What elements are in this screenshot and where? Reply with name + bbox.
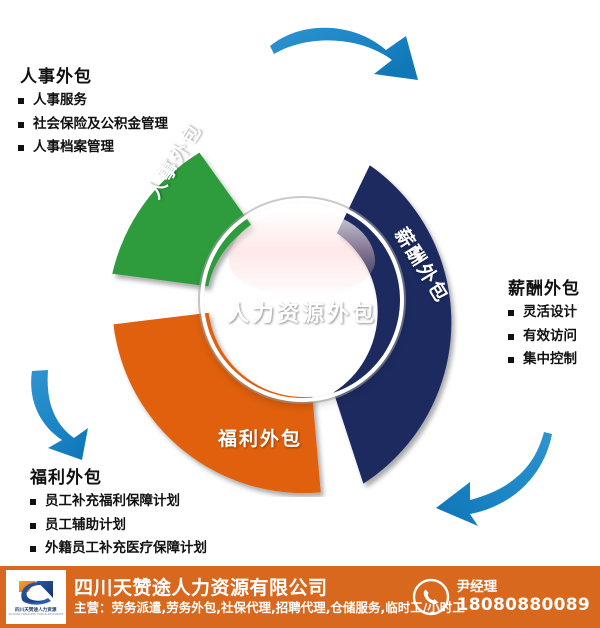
bullet-icon: [30, 499, 36, 505]
contact-phone-number: 18080880089: [457, 595, 590, 615]
list-item: 人事服务: [18, 94, 168, 108]
company-logo[interactable]: 四川天赞途人力资源 SICHUAN TIANZANTU HUMAN RESOUR…: [6, 570, 66, 624]
list-item-label: 员工辅助计划: [45, 517, 126, 533]
block-hr-title: 人事外包: [20, 62, 168, 87]
curved-arrow-right-icon: [268, 18, 438, 94]
list-item: 灵活设计: [508, 306, 580, 320]
company-name: 四川天赞途人力资源有限公司: [74, 578, 412, 600]
block-welfare-list: 员工补充福利保障计划 员工辅助计划 外籍员工补充医疗保障计划: [30, 495, 207, 556]
contact-name: 尹经理: [457, 579, 590, 595]
list-item-label: 有效访问: [523, 328, 577, 344]
contact-group[interactable]: 尹经理 18080880089: [412, 578, 590, 616]
company-logo-text: 四川天赞途人力资源: [15, 607, 57, 613]
block-salary-list: 灵活设计 有效访问 集中控制: [508, 306, 580, 367]
block-welfare-title: 福利外包: [30, 463, 207, 488]
company-logo-subtext: SICHUAN TIANZANTU HUMAN RESOURCES: [9, 613, 64, 616]
block-hr-list: 人事服务 社会保险及公积金管理 人事档案管理: [18, 94, 168, 155]
contact-lines: 尹经理 18080880089: [457, 579, 590, 616]
footer-text-group: 四川天赞途人力资源有限公司 主营：劳务派遣,劳务外包,社保代理,招聘代理,仓储服…: [74, 578, 412, 616]
list-item-label: 灵活设计: [523, 304, 577, 320]
list-item: 员工辅助计划: [30, 519, 207, 533]
curved-arrow-down-left-icon: [18, 368, 114, 468]
list-item: 有效访问: [508, 330, 580, 344]
block-welfare-outsourcing: 福利外包 员工补充福利保障计划 员工辅助计划 外籍员工补充医疗保障计划: [30, 463, 207, 566]
bullet-icon: [30, 546, 36, 552]
block-salary-title: 薪酬外包: [508, 274, 580, 299]
footer-bar: 四川天赞途人力资源 SICHUAN TIANZANTU HUMAN RESOUR…: [0, 566, 600, 628]
bullet-icon: [18, 145, 24, 151]
list-item-label: 人事档案管理: [33, 139, 114, 155]
company-tagline: 主营：劳务派遣,劳务外包,社保代理,招聘代理,仓储服务,临时工/小时工: [74, 600, 412, 616]
list-item: 社会保险及公积金管理: [18, 118, 168, 132]
curved-arrow-left-icon: [418, 428, 570, 536]
center-sphere[interactable]: 人力资源外包: [204, 202, 400, 398]
diagram-canvas: 人力资源外包 人事外包 薪酬外包 福利外包: [0, 0, 600, 628]
block-salary-outsourcing: 薪酬外包 灵活设计 有效访问 集中控制: [508, 274, 580, 377]
bullet-icon: [18, 122, 24, 128]
list-item: 外籍员工补充医疗保障计划: [30, 542, 207, 556]
phone-icon: [412, 578, 450, 616]
list-item-label: 外籍员工补充医疗保障计划: [45, 540, 207, 556]
block-hr-outsourcing: 人事外包 人事服务 社会保险及公积金管理 人事档案管理: [18, 62, 168, 165]
center-sphere-label: 人力资源外包: [204, 296, 400, 328]
list-item-label: 人事服务: [33, 92, 87, 108]
list-item: 员工补充福利保障计划: [30, 495, 207, 509]
bullet-icon: [508, 310, 514, 316]
bullet-icon: [30, 523, 36, 529]
bullet-icon: [18, 98, 24, 104]
bullet-icon: [508, 334, 514, 340]
company-logo-icon: [16, 578, 56, 606]
segment-welfare-label: 福利外包: [218, 424, 302, 451]
list-item-label: 员工补充福利保障计划: [45, 493, 180, 509]
list-item-label: 集中控制: [523, 351, 577, 367]
list-item-label: 社会保险及公积金管理: [33, 116, 168, 132]
list-item: 集中控制: [508, 353, 580, 367]
list-item: 人事档案管理: [18, 141, 168, 155]
bullet-icon: [508, 357, 514, 363]
